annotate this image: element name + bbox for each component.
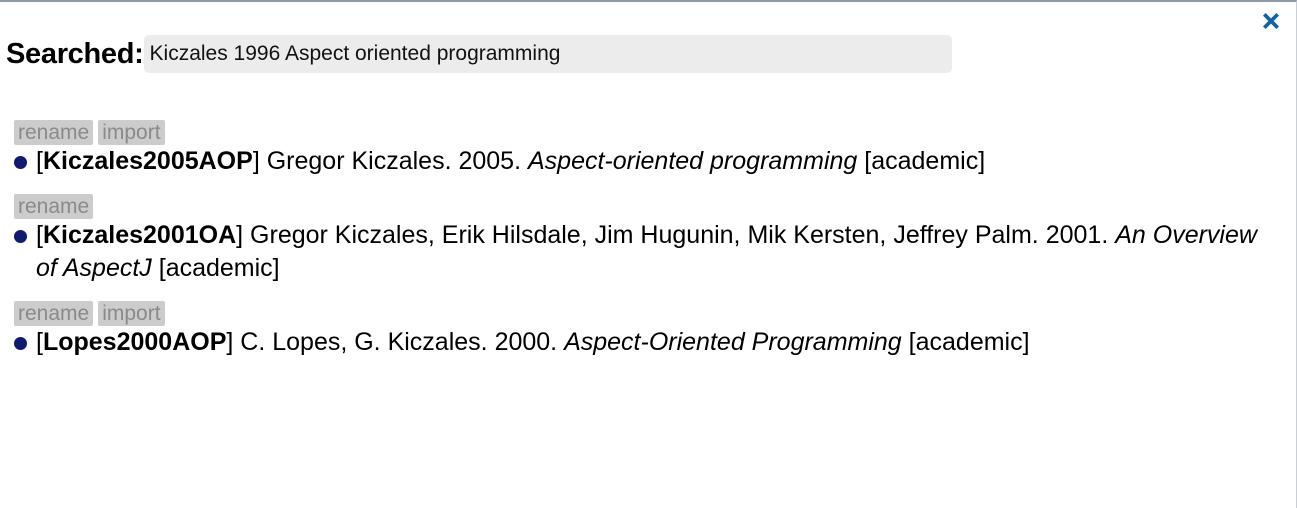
citation-authors: Gregor Kiczales. [267, 147, 459, 175]
tag-row: renameimport [0, 301, 1296, 326]
citation-year: 2001. [1046, 221, 1116, 249]
tag-rename[interactable]: rename [14, 301, 93, 326]
close-bracket: ] [236, 221, 250, 249]
close-bracket: ] [253, 147, 267, 175]
result-entry: renameimport[Kiczales2005AOP] Gregor Kic… [0, 120, 1296, 178]
citation-year: 2005. [458, 147, 528, 175]
tag-row: renameimport [0, 120, 1296, 145]
result-entry: renameimport[Lopes2000AOP] C. Lopes, G. … [0, 301, 1296, 359]
citation-key: Lopes2000AOP [43, 328, 226, 356]
citation-title: Aspect-oriented programming [528, 147, 857, 175]
open-bracket: [ [36, 147, 43, 175]
tag-import[interactable]: import [98, 301, 164, 326]
bullet-icon [14, 156, 27, 169]
citation-key: Kiczales2001OA [43, 221, 236, 249]
citation-kind: [academic] [902, 328, 1030, 356]
tag-row: rename [0, 194, 1296, 219]
citation-authors: C. Lopes, G. Kiczales. [240, 328, 494, 356]
search-results-panel: Searched: Kiczales 1996 Aspect oriented … [0, 0, 1297, 508]
citation-text: [Lopes2000AOP] C. Lopes, G. Kiczales. 20… [36, 326, 1030, 359]
close-icon[interactable] [1256, 6, 1286, 36]
result-line: [Kiczales2005AOP] Gregor Kiczales. 2005.… [0, 145, 1296, 178]
result-line: [Kiczales2001OA] Gregor Kiczales, Erik H… [0, 219, 1296, 285]
citation-authors: Gregor Kiczales, Erik Hilsdale, Jim Hugu… [250, 221, 1046, 249]
tag-rename[interactable]: rename [14, 194, 93, 219]
bullet-icon [14, 337, 27, 350]
searched-header: Searched: Kiczales 1996 Aspect oriented … [0, 2, 1296, 73]
citation-text: [Kiczales2001OA] Gregor Kiczales, Erik H… [36, 219, 1278, 285]
tag-import[interactable]: import [98, 120, 164, 145]
result-entry: rename[Kiczales2001OA] Gregor Kiczales, … [0, 194, 1296, 285]
open-bracket: [ [36, 328, 43, 356]
searched-label: Searched: [6, 35, 144, 73]
open-bracket: [ [36, 221, 43, 249]
results-list: renameimport[Kiczales2005AOP] Gregor Kic… [0, 73, 1296, 359]
citation-title: Aspect-Oriented Programming [564, 328, 902, 356]
citation-kind: [academic] [857, 147, 985, 175]
citation-text: [Kiczales2005AOP] Gregor Kiczales. 2005.… [36, 145, 985, 178]
close-bracket: ] [226, 328, 240, 356]
citation-kind: [academic] [152, 254, 280, 282]
search-query-value[interactable]: Kiczales 1996 Aspect oriented programmin… [144, 35, 952, 73]
citation-key: Kiczales2005AOP [43, 147, 253, 175]
result-line: [Lopes2000AOP] C. Lopes, G. Kiczales. 20… [0, 326, 1296, 359]
tag-rename[interactable]: rename [14, 120, 93, 145]
bullet-icon [14, 230, 27, 243]
citation-year: 2000. [495, 328, 565, 356]
